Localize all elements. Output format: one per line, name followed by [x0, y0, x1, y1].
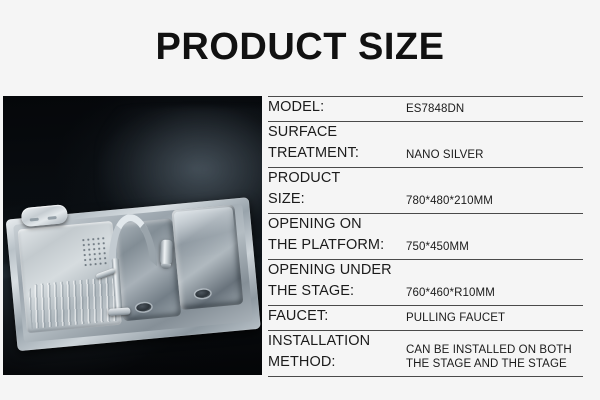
- spec-label: OPENING ON THE PLATFORM:: [268, 214, 405, 258]
- specification-table: MODEL: ES7848DN SURFACE TREATMENT: NANO …: [268, 96, 583, 377]
- spec-value: ES7848DN: [405, 102, 583, 120]
- spec-value-line2: THE STAGE AND THE STAGE: [406, 358, 567, 370]
- spec-value-line1: ES7848DN: [406, 103, 464, 115]
- spec-label-line2: METHOD:: [268, 352, 405, 373]
- spec-label-line1: FAUCET:: [268, 308, 328, 324]
- table-row: SURFACE TREATMENT: NANO SILVER: [268, 122, 583, 168]
- table-row: OPENING UNDER THE STAGE: 760*460*R10MM: [268, 260, 583, 306]
- spec-label-line2: SIZE:: [268, 189, 405, 210]
- page-title: PRODUCT SIZE: [0, 24, 600, 70]
- spec-value-line1: 750*450MM: [406, 241, 469, 253]
- spec-label: MODEL:: [268, 97, 405, 120]
- spec-label-line2: THE PLATFORM:: [268, 235, 405, 256]
- spec-label-line1: SURFACE: [268, 124, 337, 140]
- spec-value: PULLING FAUCET: [405, 311, 583, 329]
- spec-label-line1: MODEL:: [268, 99, 324, 115]
- spec-label-line1: INSTALLATION: [268, 333, 370, 349]
- spec-value: 750*450MM: [405, 240, 583, 258]
- spec-label: PRODUCT SIZE:: [268, 168, 405, 212]
- spec-label: SURFACE TREATMENT:: [268, 122, 405, 166]
- spec-value-line1: 780*480*210MM: [406, 195, 493, 207]
- spec-label: FAUCET:: [268, 306, 405, 329]
- spec-value: 760*460*R10MM: [405, 286, 583, 304]
- spec-label-line1: OPENING UNDER: [268, 262, 392, 278]
- table-row: OPENING ON THE PLATFORM: 750*450MM: [268, 214, 583, 260]
- table-row: FAUCET: PULLING FAUCET: [268, 306, 583, 331]
- spec-value-line1: CAN BE INSTALLED ON BOTH: [406, 344, 572, 356]
- spec-label-line1: OPENING ON: [268, 216, 362, 232]
- right-basin-back-wall: [174, 207, 237, 258]
- table-row: PRODUCT SIZE: 780*480*210MM: [268, 168, 583, 214]
- spec-label: INSTALLATION METHOD:: [268, 331, 405, 375]
- spec-label-line1: PRODUCT: [268, 170, 340, 186]
- spec-value: NANO SILVER: [405, 148, 583, 166]
- spec-label: OPENING UNDER THE STAGE:: [268, 260, 405, 304]
- spec-value-line1: 760*460*R10MM: [406, 287, 495, 299]
- spec-label-line2: TREATMENT:: [268, 143, 405, 164]
- spec-value-line1: NANO SILVER: [406, 149, 484, 161]
- pull-down-faucet: [96, 210, 175, 317]
- spec-value: CAN BE INSTALLED ON BOTH THE STAGE AND T…: [405, 343, 583, 375]
- spec-value: 780*480*210MM: [405, 194, 583, 212]
- table-row: MODEL: ES7848DN: [268, 96, 583, 122]
- spec-value-line1: PULLING FAUCET: [406, 312, 505, 324]
- spec-label-line2: THE STAGE:: [268, 281, 405, 302]
- product-photo: [3, 96, 262, 375]
- table-row: INSTALLATION METHOD: CAN BE INSTALLED ON…: [268, 331, 583, 377]
- faucet-spray-head: [160, 240, 173, 266]
